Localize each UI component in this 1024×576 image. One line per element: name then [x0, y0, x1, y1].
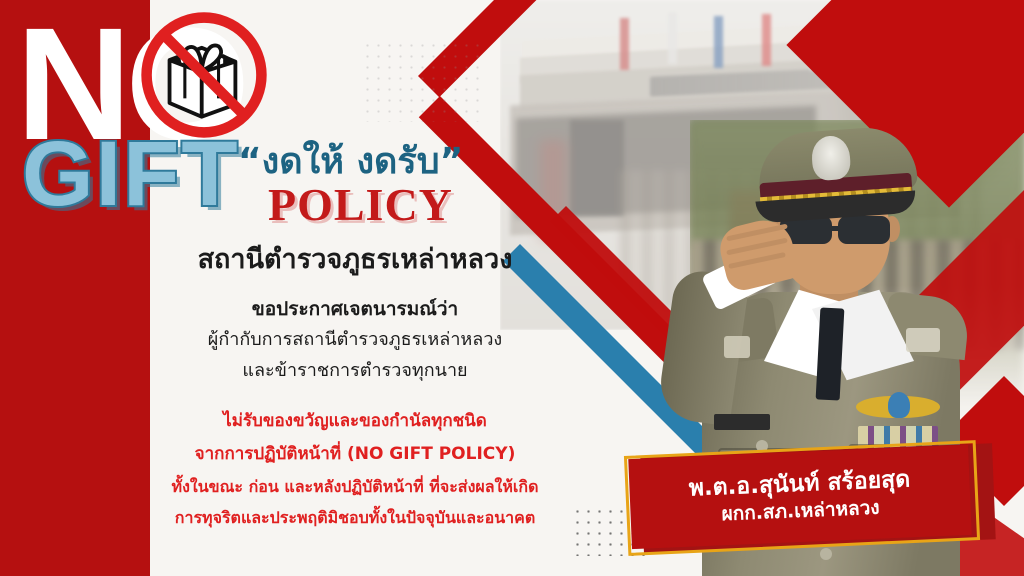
declaration-line-1: ผู้กำกับการสถานีตำรวจภูธรเหล่าหลวง — [150, 324, 560, 356]
banner-content: พ.ต.อ.สุนันท์ สร้อยสุด ผกก.สภ.เหล่าหลวง — [628, 445, 971, 549]
poster-canvas: NO GIFT “งดให้ งดรับ” POLICY สถานีตำรวจภ… — [0, 0, 1024, 576]
no-gift-prohibition-icon — [137, 8, 271, 142]
declaration-intro: ขอประกาศเจตนารมณ์ว่า — [150, 295, 560, 324]
declaration-text-block: สถานีตำรวจภูธรเหล่าหลวง ขอประกาศเจตนารมณ… — [150, 240, 560, 534]
gift-wordmark: GIFT — [22, 128, 240, 220]
policy-statement-line-1: ไม่รับของขวัญและของกำนัลทุกชนิด — [150, 405, 560, 438]
officer-role: ผกก.สภ.เหล่าหลวง — [721, 496, 880, 527]
declaration-line-2: และข้าราชการตำรวจทุกนาย — [150, 355, 560, 387]
policy-statement-line-4: การทุจริตและประพฤติมิชอบทั้งในปัจจุบันแล… — [150, 502, 560, 533]
officer-name-banner: พ.ต.อ.สุนันท์ สร้อยสุด ผกก.สภ.เหล่าหลวง — [614, 442, 1014, 562]
policy-statement-line-3: ทั้งในขณะ ก่อน และหลังปฏิบัติหน้าที่ ที่… — [150, 471, 560, 502]
station-name: สถานีตำรวจภูธรเหล่าหลวง — [150, 240, 560, 281]
policy-statement: ไม่รับของขวัญและของกำนัลทุกชนิด จากการปฏ… — [150, 405, 560, 534]
policy-wordmark: POLICY — [268, 178, 453, 231]
policy-statement-line-2: จากการปฏิบัติหน้าที่ (NO GIFT POLICY) — [150, 438, 560, 471]
dot-grid-top — [362, 40, 480, 122]
